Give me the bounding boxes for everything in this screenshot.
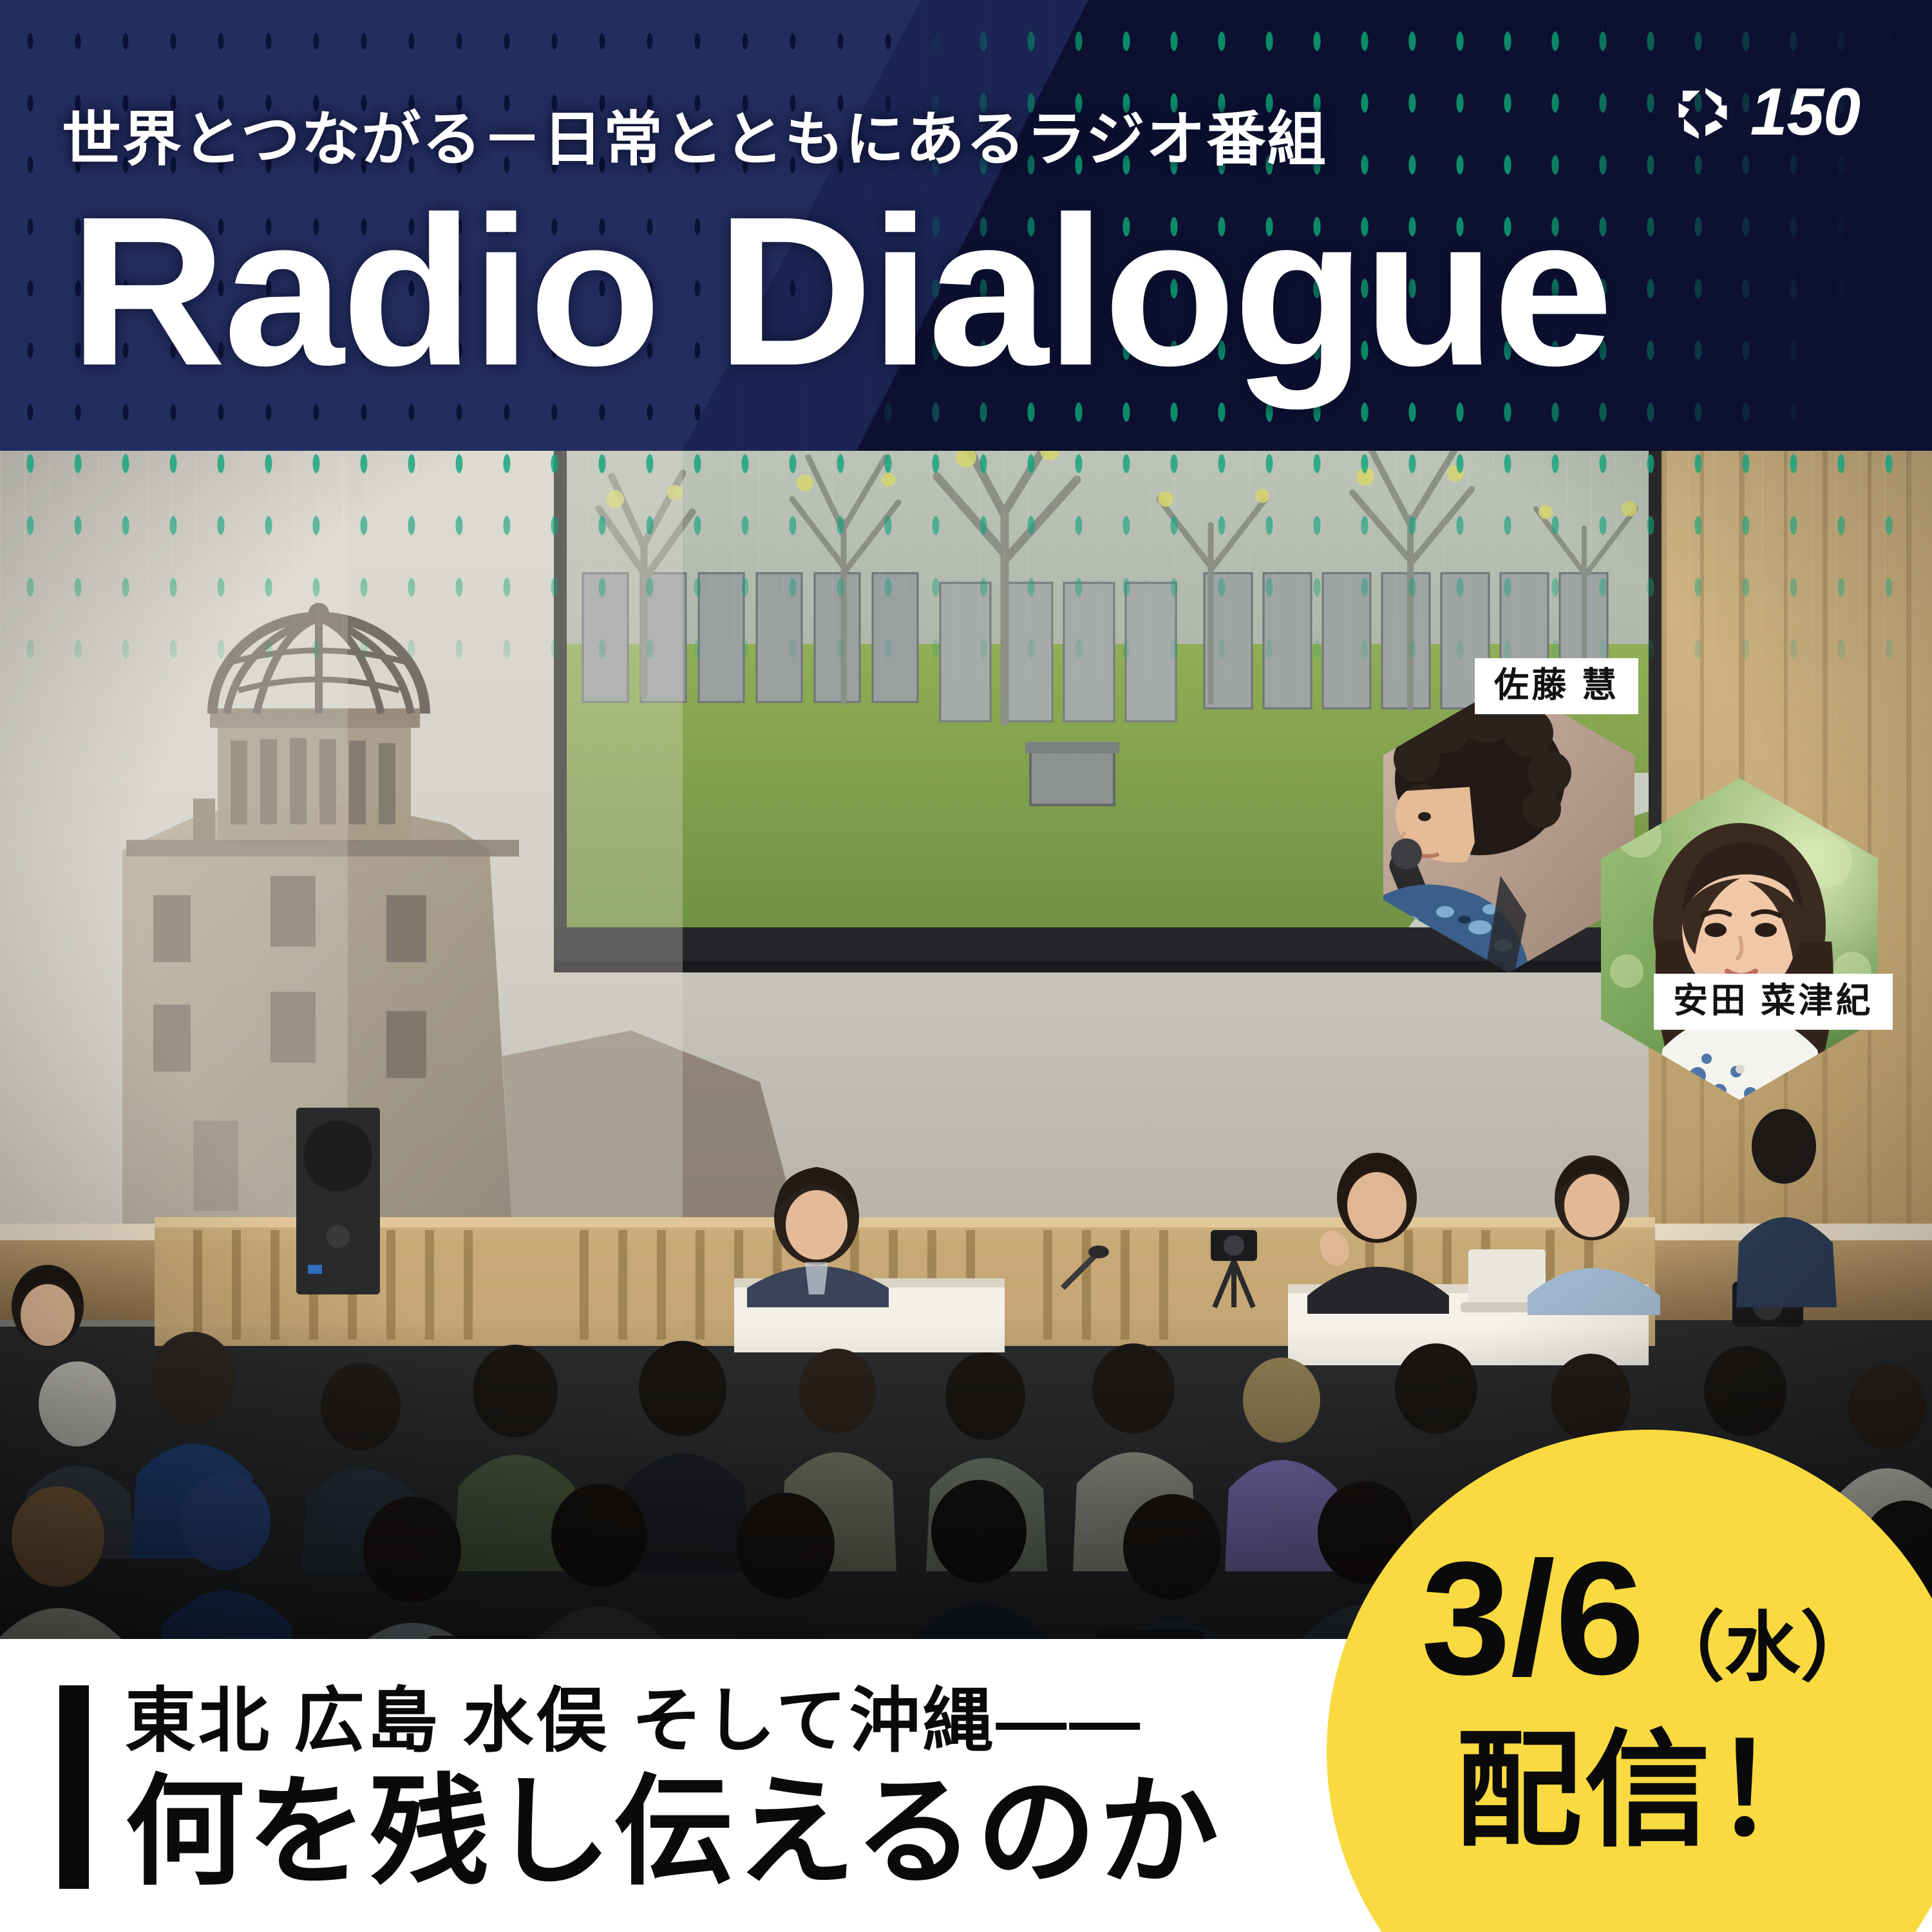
date-line: 3/6 （水）: [1421, 1546, 1877, 1690]
header-band: 世界とつながる－日常とともにあるラジオ番組 150 Radio Dialogue: [0, 0, 1932, 451]
date-month-day: 3/6: [1421, 1546, 1645, 1690]
anniversary-badge: 150: [1669, 79, 1860, 146]
page-title: Radio Dialogue: [70, 187, 1611, 395]
poster-root: 世界とつながる－日常とともにあるラジオ番組 150 Radio Dialogue: [0, 0, 1932, 1932]
aperture-icon: [1669, 79, 1736, 146]
caption-headline: 何を残し伝えるのか: [125, 1766, 1221, 1900]
broadcast-action-label: 配信！: [1455, 1728, 1842, 1854]
speaker-name-label-2: 安田 菜津紀: [1654, 974, 1893, 1030]
caption-text: 東北 広島 水俣 そして沖縄—— 何を残し伝えるのか: [125, 1681, 1221, 1900]
speaker-hex-1: [1383, 683, 1634, 972]
caption-group: 東北 広島 水俣 そして沖縄—— 何を残し伝えるのか: [59, 1681, 1221, 1900]
date-day-of-week: （水）: [1649, 1614, 1877, 1682]
caption-kicker: 東北 広島 水俣 そして沖縄——: [125, 1681, 1221, 1761]
speaker-name-label-1: 佐藤 慧: [1475, 658, 1638, 714]
caption-accent-bar: [59, 1685, 89, 1889]
anniversary-number: 150: [1750, 79, 1860, 146]
speaker-hex-2: [1601, 778, 1878, 1100]
program-tagline: 世界とつながる－日常とともにあるラジオ番組: [62, 91, 1327, 177]
